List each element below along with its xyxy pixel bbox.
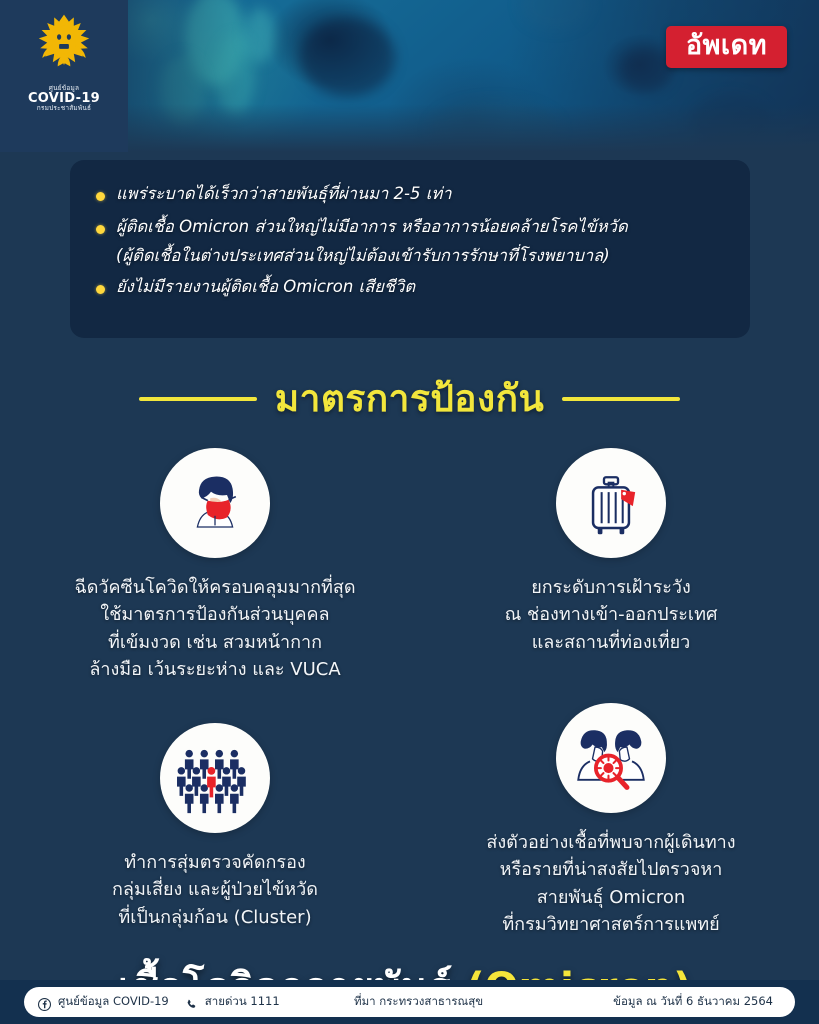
two-people-magnifier-virus-icon: [556, 703, 666, 813]
suitcase-luggage-tag-icon: [556, 448, 666, 558]
measure-text: ยกระดับการเฝ้าระวัง ณ ช่องทางเข้า-ออกประ…: [420, 574, 802, 656]
measure-text: ส่งตัวอย่างเชื้อที่พบจากผู้เดินทาง หรือร…: [420, 829, 802, 938]
bullet-dot-icon: [96, 192, 105, 201]
footer-facebook-label[interactable]: ศูนย์ข้อมูล COVID-19: [58, 993, 169, 1011]
measure-line: ที่กรมวิทยาศาสตร์การแพทย์: [420, 911, 802, 938]
measure-line: กลุ่มเสี่ยง และผู้ป่วยไข้หวัด: [18, 876, 412, 903]
bullet-subnote: (ผู้ติดเชื้อในต่างประเทศส่วนใหญ่ไม่ต้องเ…: [116, 244, 724, 268]
footer-date-label: ข้อมูล ณ วันที่ 6 ธันวาคม 2564: [613, 993, 773, 1011]
measure-line: หรือรายที่น่าสงสัยไปตรวจหา: [420, 856, 802, 883]
bullet-text: ยังไม่มีรายงานผู้ติดเชื้อ Omicron เสียชี…: [116, 275, 415, 299]
measure-line: ทำการสุ่มตรวจคัดกรอง: [18, 849, 412, 876]
measure-text: ทำการสุ่มตรวจคัดกรอง กลุ่มเสี่ยง และผู้ป…: [18, 849, 412, 931]
person-wearing-mask-icon: [160, 448, 270, 558]
measure-text: ฉีดวัคซีนโควิดให้ครอบคลุมมากที่สุด ใช้มา…: [18, 574, 412, 683]
update-badge: อัพเดท: [666, 26, 787, 68]
logo-caption: ศูนย์ข้อมูล COVID-19 กรมประชาสัมพันธ์: [28, 85, 100, 112]
measure-line: ฉีดวัคซีนโควิดให้ครอบคลุมมากที่สุด: [18, 574, 412, 601]
footer-pill: ศูนย์ข้อมูล COVID-19 สายด่วน 1111 ที่มา …: [24, 987, 795, 1017]
measure-item-cluster-screening: ทำการสุ่มตรวจคัดกรอง กลุ่มเสี่ยง และผู้ป…: [18, 723, 412, 931]
footer-hotline-label: สายด่วน 1111: [205, 993, 280, 1011]
list-item: แพร่ระบาดได้เร็วกว่าสายพันธุ์ที่ผ่านมา 2…: [96, 182, 724, 206]
list-item: ยังไม่มีรายงานผู้ติดเชื้อ Omicron เสียชี…: [96, 275, 724, 299]
measure-item-lab-testing: ส่งตัวอย่างเชื้อที่พบจากผู้เดินทาง หรือร…: [420, 703, 802, 938]
measure-item-border-surveillance: ยกระดับการเฝ้าระวัง ณ ช่องทางเข้า-ออกประ…: [420, 448, 802, 656]
crowd-cluster-people-icon: [160, 723, 270, 833]
measure-line: ที่เข้มงวด เช่น สวมหน้ากาก: [18, 629, 412, 656]
measure-line: สายพันธุ์ Omicron: [420, 884, 802, 911]
footer-social: ศูนย์ข้อมูล COVID-19 สายด่วน 1111: [24, 993, 280, 1011]
logo-line-2: COVID-19: [28, 92, 100, 106]
measure-line: ณ ช่องทางเข้า-ออกประเทศ: [420, 601, 802, 628]
divider-left: [139, 397, 257, 401]
bullet-text: ผู้ติดเชื้อ Omicron ส่วนใหญ่ไม่มีอาการ ห…: [116, 215, 628, 239]
measure-line: ที่เป็นกลุ่มก้อน (Cluster): [18, 904, 412, 931]
footer-source-label: ที่มา กระทรวงสาธารณสุข: [354, 993, 483, 1011]
list-item: ผู้ติดเชื้อ Omicron ส่วนใหญ่ไม่มีอาการ ห…: [96, 215, 724, 239]
measure-line: และสถานที่ท่องเที่ยว: [420, 629, 802, 656]
bullet-text: แพร่ระบาดได้เร็วกว่าสายพันธุ์ที่ผ่านมา 2…: [116, 182, 452, 206]
measure-line: ยกระดับการเฝ้าระวัง: [420, 574, 802, 601]
bullet-dot-icon: [96, 225, 105, 234]
section-title: มาตรการป้องกัน: [275, 378, 545, 421]
measure-item-vaccination: ฉีดวัคซีนโควิดให้ครอบคลุมมากที่สุด ใช้มา…: [18, 448, 412, 683]
logo-plate: ศูนย์ข้อมูล COVID-19 กรมประชาสัมพันธ์: [0, 0, 128, 152]
section-heading: มาตรการป้องกัน: [0, 378, 819, 421]
measure-line: ล้างมือ เว้นระยะห่าง และ VUCA: [18, 656, 412, 683]
footer-source: ที่มา กระทรวงสาธารณสุข: [354, 987, 483, 1017]
footer-bar: ศูนย์ข้อมูล COVID-19 สายด่วน 1111 ที่มา …: [0, 980, 819, 1024]
measure-line: ใช้มาตรการป้องกันส่วนบุคคล: [18, 601, 412, 628]
key-facts-panel: แพร่ระบาดได้เร็วกว่าสายพันธุ์ที่ผ่านมา 2…: [70, 160, 750, 338]
garuda-emblem-icon: [29, 9, 99, 79]
footer-date: ข้อมูล ณ วันที่ 6 ธันวาคม 2564: [613, 987, 773, 1017]
logo-line-3: กรมประชาสัมพันธ์: [28, 105, 100, 112]
divider-right: [562, 397, 680, 401]
facebook-icon[interactable]: [38, 996, 51, 1009]
bullet-dot-icon: [96, 285, 105, 294]
phone-icon: [185, 996, 198, 1009]
infographic-page: ศูนย์ข้อมูล COVID-19 กรมประชาสัมพันธ์ อั…: [0, 0, 819, 1024]
measure-line: ส่งตัวอย่างเชื้อที่พบจากผู้เดินทาง: [420, 829, 802, 856]
